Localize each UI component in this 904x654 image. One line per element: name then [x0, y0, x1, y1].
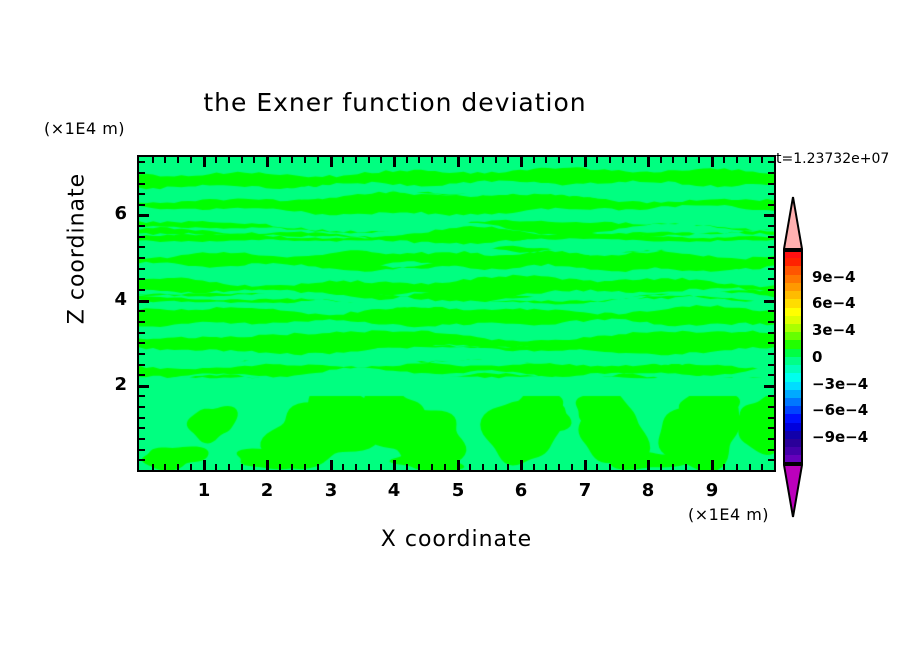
- y-minor-tick-right: [768, 438, 774, 440]
- colorbar-band: [783, 382, 803, 390]
- y-minor-tick-right: [768, 417, 774, 419]
- colorbar-band: [783, 340, 803, 348]
- x-minor-tick-top: [482, 157, 484, 163]
- y-minor-tick-right: [768, 183, 774, 185]
- x-tick-label: 8: [636, 480, 660, 501]
- y-minor-tick-right: [768, 342, 774, 344]
- colorbar-band: [783, 332, 803, 340]
- y-minor-tick: [139, 257, 145, 259]
- colorbar-band: [783, 447, 803, 455]
- y-minor-tick-right: [768, 172, 774, 174]
- x-minor-tick: [215, 464, 217, 470]
- y-minor-tick: [139, 332, 145, 334]
- x-major-tick-top: [330, 157, 333, 167]
- x-tick-label: 6: [509, 480, 533, 501]
- y-minor-tick: [139, 321, 145, 323]
- colorbar-band: [783, 431, 803, 439]
- colorbar-tick-label: −6e−4: [812, 401, 868, 419]
- x-minor-tick-top: [622, 157, 624, 163]
- x-minor-tick-top: [685, 157, 687, 163]
- colorbar-band: [783, 291, 803, 299]
- colorbar-band: [783, 357, 803, 365]
- y-minor-tick: [139, 236, 145, 238]
- y-minor-tick-right: [768, 395, 774, 397]
- y-major-tick-right: [764, 300, 774, 303]
- x-tick-label: 2: [255, 480, 279, 501]
- x-major-tick: [520, 460, 523, 470]
- x-minor-tick-top: [228, 157, 230, 163]
- y-minor-tick-right: [768, 204, 774, 206]
- x-tick-label: 7: [573, 480, 597, 501]
- x-minor-tick-top: [761, 157, 763, 163]
- x-tick-label: 1: [192, 480, 216, 501]
- y-minor-tick-right: [768, 278, 774, 280]
- x-minor-tick-top: [304, 157, 306, 163]
- x-minor-tick-top: [177, 157, 179, 163]
- x-tick-label: 3: [319, 480, 343, 501]
- y-minor-tick: [139, 246, 145, 248]
- y-tick-label: 2: [101, 374, 127, 395]
- x-major-tick: [711, 460, 714, 470]
- x-minor-tick: [685, 464, 687, 470]
- x-minor-tick: [152, 464, 154, 470]
- x-minor-tick: [622, 464, 624, 470]
- x-minor-tick-top: [444, 157, 446, 163]
- x-minor-tick-top: [152, 157, 154, 163]
- x-minor-tick: [761, 464, 763, 470]
- colorbar-band: [783, 373, 803, 381]
- x-minor-tick-top: [495, 157, 497, 163]
- colorbar-band: [783, 406, 803, 414]
- x-minor-tick-top: [723, 157, 725, 163]
- x-minor-tick: [558, 464, 560, 470]
- x-minor-tick: [634, 464, 636, 470]
- y-axis-unit-label: (×1E4 m): [44, 119, 125, 138]
- x-major-tick-top: [393, 157, 396, 167]
- y-minor-tick-right: [768, 449, 774, 451]
- x-major-tick: [584, 460, 587, 470]
- x-minor-tick-top: [253, 157, 255, 163]
- y-tick-label: 6: [101, 203, 127, 224]
- x-minor-tick-top: [749, 157, 751, 163]
- colorbar-band: [783, 324, 803, 332]
- x-minor-tick: [164, 464, 166, 470]
- y-minor-tick: [139, 342, 145, 344]
- colorbar-tick-label: 0: [812, 348, 822, 366]
- timestamp-annotation: t=1.23732e+07: [776, 151, 889, 167]
- y-minor-tick: [139, 395, 145, 397]
- colorbar-band: [783, 455, 803, 463]
- y-minor-tick: [139, 364, 145, 366]
- x-major-tick-top: [711, 157, 714, 167]
- x-minor-tick-top: [609, 157, 611, 163]
- x-minor-tick-top: [672, 157, 674, 163]
- x-minor-tick-top: [291, 157, 293, 163]
- x-minor-tick: [368, 464, 370, 470]
- x-minor-tick: [723, 464, 725, 470]
- x-major-tick: [330, 460, 333, 470]
- y-minor-tick-right: [768, 161, 774, 163]
- x-minor-tick: [660, 464, 662, 470]
- colorbar-band: [783, 266, 803, 274]
- x-major-tick-top: [457, 157, 460, 167]
- x-minor-tick-top: [418, 157, 420, 163]
- y-minor-tick-right: [768, 225, 774, 227]
- y-minor-tick-right: [768, 374, 774, 376]
- colorbar-band: [783, 283, 803, 291]
- x-minor-tick-top: [279, 157, 281, 163]
- x-minor-tick-top: [406, 157, 408, 163]
- y-major-tick: [139, 214, 149, 217]
- x-minor-tick-top: [368, 157, 370, 163]
- x-minor-tick-top: [545, 157, 547, 163]
- x-minor-tick: [380, 464, 382, 470]
- y-minor-tick-right: [768, 268, 774, 270]
- y-minor-tick: [139, 268, 145, 270]
- x-minor-tick: [507, 464, 509, 470]
- x-minor-tick: [228, 464, 230, 470]
- x-major-tick-top: [203, 157, 206, 167]
- x-minor-tick: [533, 464, 535, 470]
- x-minor-tick-top: [558, 157, 560, 163]
- y-major-tick-right: [764, 214, 774, 217]
- y-minor-tick-right: [768, 427, 774, 429]
- y-minor-tick: [139, 353, 145, 355]
- colorbar-tick-label: −9e−4: [812, 428, 868, 446]
- x-minor-tick: [253, 464, 255, 470]
- x-minor-tick: [190, 464, 192, 470]
- colorbar-band: [783, 390, 803, 398]
- x-minor-tick: [418, 464, 420, 470]
- colorbar-tick-label: −3e−4: [812, 375, 868, 393]
- y-tick-label: 4: [101, 289, 127, 310]
- x-minor-tick: [444, 464, 446, 470]
- x-tick-label: 9: [700, 480, 724, 501]
- x-minor-tick-top: [698, 157, 700, 163]
- y-minor-tick-right: [768, 236, 774, 238]
- x-minor-tick: [406, 464, 408, 470]
- y-major-tick-right: [764, 385, 774, 388]
- x-minor-tick-top: [634, 157, 636, 163]
- colorbar-band: [783, 349, 803, 357]
- x-minor-tick: [342, 464, 344, 470]
- x-minor-tick-top: [380, 157, 382, 163]
- y-minor-tick-right: [768, 406, 774, 408]
- y-minor-tick: [139, 310, 145, 312]
- colorbar-band: [783, 414, 803, 422]
- colorbar-under-arrow: [783, 464, 803, 518]
- x-minor-tick-top: [736, 157, 738, 163]
- y-minor-tick-right: [768, 257, 774, 259]
- x-major-tick-top: [520, 157, 523, 167]
- y-minor-tick: [139, 161, 145, 163]
- colorbar-band: [783, 439, 803, 447]
- colorbar-band: [783, 365, 803, 373]
- colorbar-tick-label: 6e−4: [812, 294, 856, 312]
- x-minor-tick-top: [596, 157, 598, 163]
- colorbar[interactable]: [783, 250, 803, 464]
- x-minor-tick-top: [190, 157, 192, 163]
- y-minor-tick: [139, 406, 145, 408]
- x-major-tick: [647, 460, 650, 470]
- x-minor-tick-top: [533, 157, 535, 163]
- x-minor-tick-top: [215, 157, 217, 163]
- x-minor-tick-top: [355, 157, 357, 163]
- x-tick-label: 4: [382, 480, 406, 501]
- x-minor-tick: [545, 464, 547, 470]
- x-minor-tick: [469, 464, 471, 470]
- x-minor-tick-top: [431, 157, 433, 163]
- x-major-tick: [457, 460, 460, 470]
- contour-plot-area: [137, 155, 776, 472]
- y-minor-tick-right: [768, 193, 774, 195]
- y-minor-tick: [139, 204, 145, 206]
- y-minor-tick: [139, 374, 145, 376]
- x-major-tick: [266, 460, 269, 470]
- colorbar-tick-label: 3e−4: [812, 321, 856, 339]
- colorbar-band: [783, 275, 803, 283]
- x-minor-tick-top: [164, 157, 166, 163]
- y-minor-tick: [139, 417, 145, 419]
- y-minor-tick: [139, 438, 145, 440]
- y-major-tick: [139, 300, 149, 303]
- y-minor-tick: [139, 172, 145, 174]
- x-major-tick-top: [647, 157, 650, 167]
- x-minor-tick: [736, 464, 738, 470]
- y-major-tick: [139, 385, 149, 388]
- y-minor-tick-right: [768, 364, 774, 366]
- contour-field: [139, 157, 774, 470]
- x-minor-tick: [304, 464, 306, 470]
- x-minor-tick: [177, 464, 179, 470]
- colorbar-band: [783, 250, 803, 258]
- x-minor-tick: [317, 464, 319, 470]
- x-minor-tick: [596, 464, 598, 470]
- x-minor-tick-top: [660, 157, 662, 163]
- x-minor-tick-top: [469, 157, 471, 163]
- x-minor-tick: [698, 464, 700, 470]
- x-minor-tick-top: [507, 157, 509, 163]
- colorbar-band: [783, 308, 803, 316]
- x-minor-tick: [749, 464, 751, 470]
- x-major-tick-top: [584, 157, 587, 167]
- x-minor-tick: [482, 464, 484, 470]
- page-title: the Exner function deviation: [0, 88, 790, 117]
- colorbar-band: [783, 299, 803, 307]
- x-minor-tick-top: [342, 157, 344, 163]
- x-major-tick-top: [266, 157, 269, 167]
- x-axis-title: X coordinate: [137, 527, 776, 552]
- y-minor-tick: [139, 183, 145, 185]
- y-axis-title: Z coordinate: [65, 139, 90, 359]
- y-minor-tick-right: [768, 353, 774, 355]
- x-minor-tick: [279, 464, 281, 470]
- y-minor-tick: [139, 193, 145, 195]
- x-axis-unit-label: (×1E4 m): [688, 505, 769, 524]
- y-minor-tick: [139, 278, 145, 280]
- colorbar-band: [783, 423, 803, 431]
- y-minor-tick-right: [768, 459, 774, 461]
- x-major-tick: [393, 460, 396, 470]
- y-minor-tick-right: [768, 289, 774, 291]
- colorbar-over-arrow: [783, 196, 803, 250]
- x-minor-tick: [241, 464, 243, 470]
- colorbar-band: [783, 258, 803, 266]
- x-minor-tick-top: [317, 157, 319, 163]
- x-minor-tick: [431, 464, 433, 470]
- x-major-tick: [203, 460, 206, 470]
- colorbar-band: [783, 398, 803, 406]
- colorbar-band: [783, 316, 803, 324]
- x-tick-label: 5: [446, 480, 470, 501]
- y-minor-tick-right: [768, 332, 774, 334]
- y-minor-tick: [139, 289, 145, 291]
- y-minor-tick: [139, 449, 145, 451]
- y-minor-tick-right: [768, 321, 774, 323]
- x-minor-tick: [609, 464, 611, 470]
- y-minor-tick-right: [768, 310, 774, 312]
- y-minor-tick: [139, 427, 145, 429]
- y-minor-tick: [139, 225, 145, 227]
- x-minor-tick-top: [571, 157, 573, 163]
- x-minor-tick: [355, 464, 357, 470]
- colorbar-tick-label: 9e−4: [812, 268, 856, 286]
- y-minor-tick-right: [768, 246, 774, 248]
- y-minor-tick: [139, 459, 145, 461]
- x-minor-tick: [571, 464, 573, 470]
- x-minor-tick-top: [241, 157, 243, 163]
- x-minor-tick: [495, 464, 497, 470]
- x-minor-tick: [291, 464, 293, 470]
- x-minor-tick: [672, 464, 674, 470]
